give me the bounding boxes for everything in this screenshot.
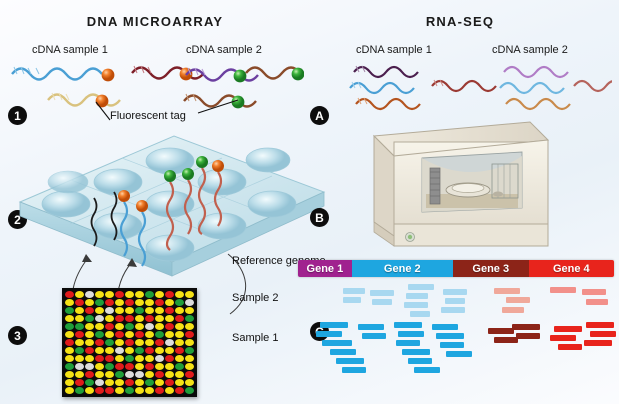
heatmap-spot [105,347,114,354]
heatmap-spot [135,331,144,338]
heatmap-spot [145,307,154,314]
heatmap-spot [185,387,194,394]
heatmap-spot [65,347,74,354]
heatmap-spot [105,331,114,338]
heatmap-spot [65,299,74,306]
heatmap-spot [85,387,94,394]
microarray-heatmap [62,288,197,397]
heatmap-spot [145,315,154,322]
heatmap-spot [175,339,184,346]
heatmap-spot [125,315,134,322]
heatmap-spot [115,291,124,298]
heatmap-spot [145,299,154,306]
heatmap-spot [75,315,84,322]
reference-genome-track: Gene 1Gene 2Gene 3Gene 4 [298,260,614,277]
read-bar-sample1 [336,358,364,364]
heatmap-spot [95,371,104,378]
read-bar-sample2 [372,299,392,305]
heatmap-spot [165,363,174,370]
read-bar-sample1 [316,331,342,337]
heatmap-spot [115,307,124,314]
heatmap-spot [145,363,154,370]
heatmap-grid [65,291,194,394]
read-bar-sample2 [506,297,530,303]
heatmap-spot [125,299,134,306]
read-bar-sample1 [446,351,472,357]
read-bar-sample2 [343,297,361,303]
read-bar-sample1 [516,333,540,339]
heatmap-spot [105,363,114,370]
heatmap-spot [155,331,164,338]
heatmap-spot [165,355,174,362]
read-bar-sample2 [586,299,608,305]
heatmap-spot [155,307,164,314]
read-bar-sample1 [322,340,352,346]
heatmap-spot [175,331,184,338]
heatmap-spot [175,363,184,370]
heatmap-spot [115,339,124,346]
sample1-reads [298,322,618,388]
read-bar-sample2 [406,293,428,299]
gene-segment-4[interactable]: Gene 4 [529,260,614,277]
heatmap-spot [75,307,84,314]
heatmap-spot [125,339,134,346]
heatmap-spot [125,331,134,338]
heatmap-spot [165,347,174,354]
panel-title-rnaseq: RNA-SEQ [370,14,550,29]
heatmap-spot [65,387,74,394]
heatmap-spot [145,339,154,346]
read-bar-sample1 [362,333,386,339]
heatmap-spot [185,315,194,322]
heatmap-spot [185,331,194,338]
figure-canvas: DNA MICROARRAY RNA-SEQ cDNA sample 1 cDN… [0,0,619,404]
heatmap-spot [75,323,84,330]
heatmap-spot [85,331,94,338]
heatmap-spot [85,299,94,306]
read-bar-sample1 [554,326,582,332]
read-bar-sample1 [330,349,356,355]
heatmap-spot [155,347,164,354]
fluorescent-tag-label: Fluorescent tag [110,110,186,122]
heatmap-spot [185,339,194,346]
rnaseq-sample2-label: cDNA sample 2 [492,44,568,56]
read-bar-sample1 [358,324,384,330]
heatmap-spot [105,379,114,386]
heatmap-spot [115,371,124,378]
heatmap-spot [65,363,74,370]
read-bar-sample2 [404,302,428,308]
gene-segment-2[interactable]: Gene 2 [352,260,453,277]
heatmap-spot [165,387,174,394]
heatmap-spot [85,291,94,298]
read-bar-sample2 [410,311,430,317]
heatmap-spot [145,291,154,298]
read-bar-sample1 [398,331,424,337]
heatmap-spot [75,347,84,354]
heatmap-spot [115,323,124,330]
heatmap-spot [105,339,114,346]
read-bar-sample2 [494,288,520,294]
heatmap-spot [95,339,104,346]
heatmap-spot [175,355,184,362]
heatmap-spot [145,371,154,378]
gene-segment-3[interactable]: Gene 3 [453,260,529,277]
heatmap-spot [95,355,104,362]
heatmap-spot [165,315,174,322]
row-label-sample1: Sample 1 [232,332,278,345]
read-bar-sample1 [590,331,616,337]
heatmap-spot [95,379,104,386]
heatmap-spot [145,347,154,354]
heatmap-spot [95,307,104,314]
read-bar-sample2 [445,298,465,304]
panel-title-microarray: DNA MICROARRAY [40,14,270,29]
heatmap-spot [125,323,134,330]
heatmap-spot [95,315,104,322]
heatmap-spot [125,379,134,386]
heatmap-spot [75,387,84,394]
heatmap-spot [155,299,164,306]
read-bar-sample2 [441,307,465,313]
heatmap-spot [95,323,104,330]
heatmap-spot [155,371,164,378]
heatmap-spot [65,379,74,386]
rnaseq-sample1-strands [350,66,496,109]
heatmap-spot [155,387,164,394]
read-bar-sample1 [488,328,514,334]
heatmap-spot [175,315,184,322]
heatmap-spot [135,307,144,314]
heatmap-spot [115,331,124,338]
heatmap-spot [65,371,74,378]
heatmap-spot [175,307,184,314]
read-bar-sample1 [436,333,464,339]
heatmap-spot [115,363,124,370]
heatmap-spot [85,355,94,362]
heatmap-spot [75,371,84,378]
heatmap-spot [115,299,124,306]
heatmap-spot [85,371,94,378]
heatmap-spot [75,339,84,346]
heatmap-spot [105,355,114,362]
heatmap-spot [185,347,194,354]
microarray-sample2-label: cDNA sample 2 [186,44,262,56]
heatmap-spot [155,379,164,386]
heatmap-spot [175,387,184,394]
read-bar-sample1 [432,324,458,330]
read-bar-sample2 [582,289,606,295]
heatmap-spot [95,299,104,306]
sample2-reads [298,284,618,320]
heatmap-spot [65,323,74,330]
heatmap-spot [165,339,174,346]
heatmap-spot [145,323,154,330]
heatmap-spot [155,315,164,322]
heatmap-spot [175,291,184,298]
read-bar-sample1 [440,342,464,348]
gene-segment-1[interactable]: Gene 1 [298,260,352,277]
heatmap-spot [175,371,184,378]
heatmap-spot [85,347,94,354]
heatmap-spot [65,331,74,338]
row-label-sample2: Sample 2 [232,292,278,305]
heatmap-spot [85,339,94,346]
heatmap-spot [145,355,154,362]
heatmap-spot [125,387,134,394]
rnaseq-sample2-strands [500,67,612,109]
heatmap-spot [65,307,74,314]
heatmap-spot [65,355,74,362]
read-bar-sample1 [494,337,518,343]
heatmap-spot [135,291,144,298]
heatmap-spot [125,355,134,362]
heatmap-spot [75,291,84,298]
heatmap-spot [95,387,104,394]
heatmap-spot [185,371,194,378]
read-bar-sample1 [584,340,612,346]
heatmap-spot [65,339,74,346]
heatmap-spot [105,299,114,306]
heatmap-spot [115,347,124,354]
heatmap-spot [155,363,164,370]
heatmap-spot [175,379,184,386]
heatmap-spot [65,315,74,322]
heatmap-spot [135,371,144,378]
read-bar-sample2 [443,289,467,295]
heatmap-spot [145,379,154,386]
step-marker-3: 3 [8,326,27,345]
heatmap-spot [85,379,94,386]
read-bar-sample1 [396,340,420,346]
read-bar-sample2 [550,287,576,293]
read-bar-sample1 [342,367,366,373]
heatmap-spot [155,323,164,330]
step-marker-1: 1 [8,106,27,125]
heatmap-spot [135,299,144,306]
read-bar-sample1 [586,322,614,328]
rnaseq-cdna-strands [340,58,612,114]
read-bar-sample2 [370,290,394,296]
heatmap-spot [185,323,194,330]
heatmap-spot [85,307,94,314]
heatmap-spot [145,331,154,338]
read-bar-sample1 [320,322,348,328]
heatmap-spot [85,315,94,322]
heatmap-spot [185,299,194,306]
strand-blue [12,67,114,81]
heatmap-spot [105,291,114,298]
heatmap-spot [105,387,114,394]
heatmap-spot [105,315,114,322]
heatmap-spot [95,363,104,370]
heatmap-spot [115,379,124,386]
heatmap-spot [165,307,174,314]
step-marker-B: B [310,208,329,227]
sequencing-machine [352,112,558,252]
read-bar-sample2 [502,307,524,313]
heatmap-spot [85,363,94,370]
heatmap-spot [95,347,104,354]
heatmap-spot [145,387,154,394]
microarray-sample1-label: cDNA sample 1 [32,44,108,56]
heatmap-spot [125,347,134,354]
read-bar-sample1 [408,358,432,364]
heatmap-spot [175,323,184,330]
heatmap-spot [175,299,184,306]
heatmap-spot [135,339,144,346]
read-bar-sample1 [394,322,422,328]
heatmap-spot [125,363,134,370]
heatmap-spot [115,355,124,362]
heatmap-spot [165,379,174,386]
heatmap-spot [115,315,124,322]
heatmap-spot [105,371,114,378]
heatmap-spot [125,307,134,314]
heatmap-spot [85,323,94,330]
heatmap-spot [165,299,174,306]
heatmap-spot [165,371,174,378]
heatmap-spot [125,291,134,298]
heatmap-spot [125,371,134,378]
heatmap-spot [185,363,194,370]
read-bar-sample1 [550,335,576,341]
heatmap-spot [105,307,114,314]
heatmap-spot [75,379,84,386]
heatmap-spot [135,347,144,354]
heatmap-spot [135,387,144,394]
heatmap-spot [185,307,194,314]
heatmap-spot [135,379,144,386]
heatmap-spot [115,387,124,394]
heatmap-spot [185,355,194,362]
heatmap-spot [75,331,84,338]
rnaseq-sample1-label: cDNA sample 1 [356,44,432,56]
heatmap-spot [75,363,84,370]
heatmap-spot [155,339,164,346]
heatmap-spot [75,299,84,306]
read-bar-sample1 [558,344,582,350]
heatmap-spot [185,379,194,386]
read-bar-sample1 [402,349,430,355]
heatmap-spot [135,355,144,362]
read-bar-sample2 [408,284,434,290]
heatmap-spot [165,291,174,298]
heatmap-spot [95,291,104,298]
heatmap-spot [95,331,104,338]
read-bar-sample2 [343,288,365,294]
heatmap-spot [135,323,144,330]
heatmap-spot [65,291,74,298]
read-bar-sample1 [414,367,440,373]
step-marker-A: A [310,106,329,125]
heatmap-spot [165,331,174,338]
heatmap-spot [155,291,164,298]
heatmap-spot [175,347,184,354]
strand-darkred [132,66,204,80]
heatmap-spot [75,355,84,362]
heatmap-spot [165,323,174,330]
heatmap-spot [185,291,194,298]
heatmap-spot [105,323,114,330]
heatmap-spot [155,355,164,362]
read-bar-sample1 [512,324,540,330]
heatmap-spot [135,363,144,370]
heatmap-spot [135,315,144,322]
